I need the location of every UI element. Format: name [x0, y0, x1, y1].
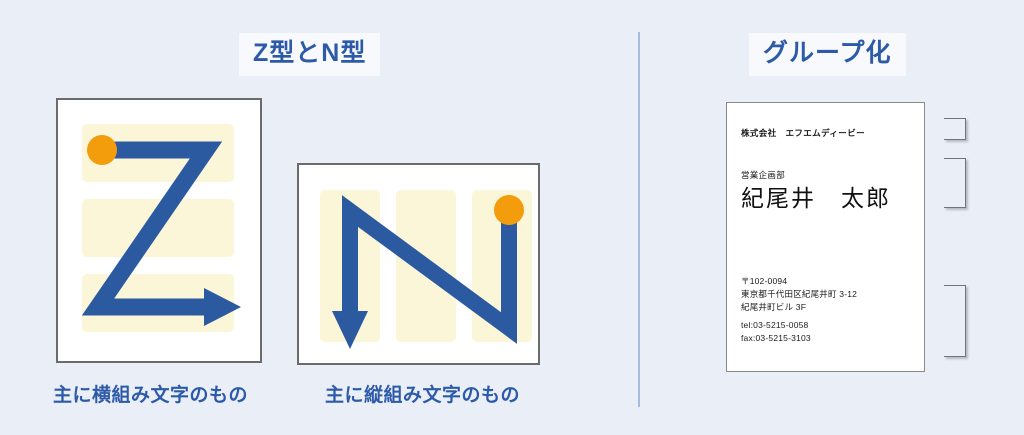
n-flow-arrow [299, 165, 538, 363]
business-card-company: 株式会社 エフエムディービー [741, 127, 865, 139]
business-card-name: 紀尾井 太郎 [741, 179, 891, 213]
n-pattern-caption: 主に縦組み文字のもの [325, 380, 520, 407]
group-bracket-name-icon [944, 158, 966, 208]
panel-title-left: Z型とN型 [239, 33, 380, 76]
start-marker-dot [87, 135, 117, 165]
z-pattern-caption: 主に横組み文字のもの [53, 380, 248, 407]
panel-title-right: グループ化 [749, 33, 906, 76]
panel-divider [638, 32, 640, 407]
n-pattern-card [297, 163, 540, 365]
slide-canvas: Z型とN型 主に横組み文字のもの 主に縦組み文字のもの [0, 0, 1024, 435]
z-flow-arrow [58, 100, 260, 361]
business-card-address: 〒102-0094 東京都千代田区紀尾井町 3-12 紀尾井町ビル 3F [741, 275, 857, 314]
start-marker-dot [494, 195, 524, 225]
business-card-contact: tel:03-5215-0058 fax:03-5215-3103 [741, 319, 811, 345]
business-card: 株式会社 エフエムディービー 営業企画部 紀尾井 太郎 〒102-0094 東京… [726, 102, 925, 372]
group-bracket-address-icon [944, 285, 966, 357]
z-pattern-card [56, 98, 262, 363]
group-bracket-company-icon [944, 118, 966, 140]
